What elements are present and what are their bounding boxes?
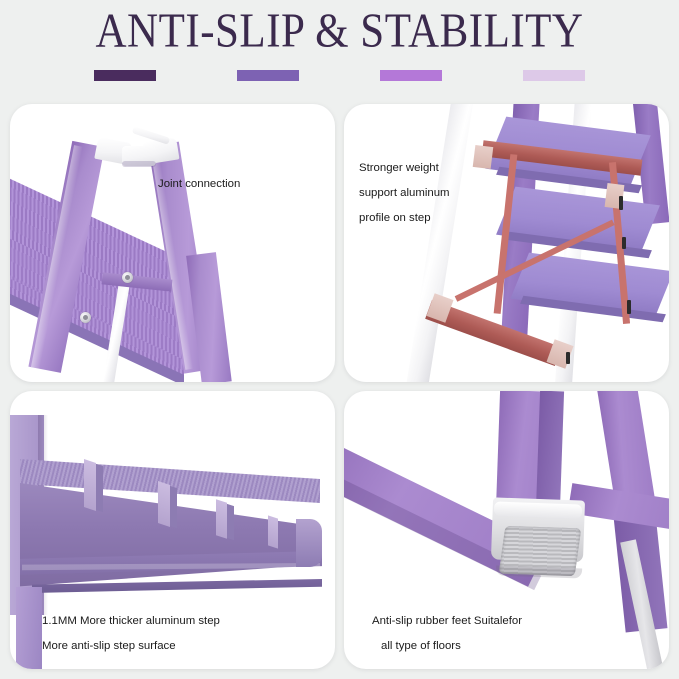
panel-thicker-step-caption-1: 1.1MM More thicker aluminum step xyxy=(42,609,220,634)
bolt-lower xyxy=(627,300,631,314)
step-internal-fin-3-face xyxy=(227,504,234,540)
step-internal-fin-3 xyxy=(216,499,227,539)
accent-bar-4 xyxy=(523,70,585,81)
panel-aluminum-profile-caption-2: support aluminum xyxy=(359,181,450,206)
panel-joint-connection: Joint connection xyxy=(10,104,335,382)
accent-bar-group xyxy=(0,70,679,81)
step-internal-fin-1 xyxy=(84,459,96,511)
page-header: ANTI-SLIP & STABILITY xyxy=(0,0,679,96)
rivet-rail-front xyxy=(80,312,91,323)
step-internal-fin-2-face xyxy=(170,486,177,528)
rivet-strut-top xyxy=(122,272,133,283)
accent-bar-3 xyxy=(380,70,442,81)
page-title: ANTI-SLIP & STABILITY xyxy=(0,4,679,59)
step-internal-fin-4 xyxy=(268,515,278,548)
ladder-side-stile-white xyxy=(403,104,476,382)
bolt-upper xyxy=(619,196,623,210)
step-left-support xyxy=(16,587,42,669)
aluminum-profile-illustration xyxy=(344,104,669,382)
step-internal-fin-2 xyxy=(158,481,170,527)
panel-aluminum-profile: Stronger weight support aluminum profile… xyxy=(344,104,669,382)
step-end-cap xyxy=(296,519,322,567)
panel-thicker-step: 1.1MM More thicker aluminum step More an… xyxy=(10,391,335,669)
panel-rubber-feet: Anti-slip rubber feet Suitalefor all typ… xyxy=(344,391,669,669)
accent-bar-2 xyxy=(237,70,299,81)
panel-aluminum-profile-caption-3: profile on step xyxy=(359,206,431,231)
joint-connection-illustration xyxy=(10,104,335,382)
bolt-middle xyxy=(622,237,626,249)
panel-joint-connection-caption: Joint connection xyxy=(158,172,240,197)
panel-aluminum-profile-caption-1: Stronger weight xyxy=(359,156,439,181)
profile-clamp-top-left xyxy=(473,145,494,169)
feature-panel-grid: Joint connection xyxy=(0,96,679,679)
step-internal-fin-1-face xyxy=(96,464,103,512)
panel-rubber-feet-caption-2: all type of floors xyxy=(372,634,461,659)
ladder-front-leg-shade xyxy=(536,391,564,511)
bolt-bottom-rung xyxy=(566,352,570,364)
panel-rubber-feet-caption-1: Anti-slip rubber feet Suitalefor xyxy=(372,609,522,634)
accent-bar-1 xyxy=(94,70,156,81)
joint-cap-shadow xyxy=(122,161,156,167)
panel-thicker-step-caption-2: More anti-slip step surface xyxy=(42,634,176,659)
